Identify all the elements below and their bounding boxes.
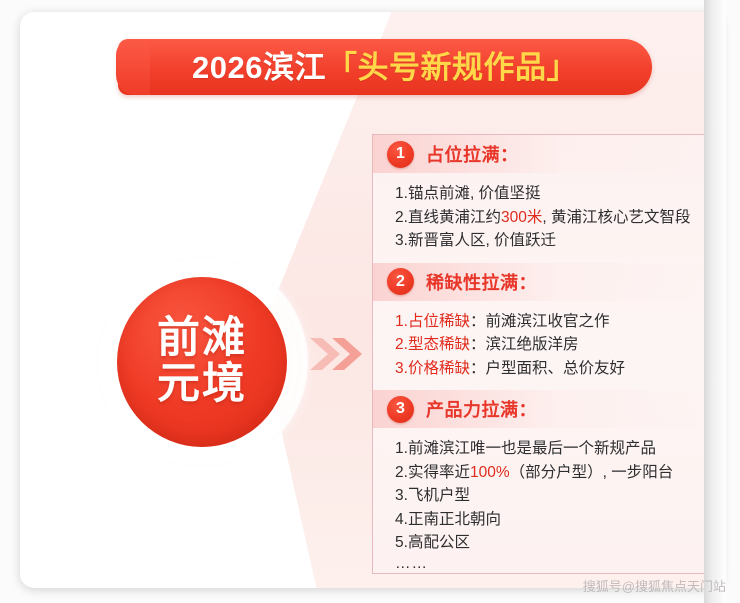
title-banner: 2026滨江「头号新规作品」 xyxy=(118,39,652,95)
title-text-white: 2026滨江 xyxy=(192,50,326,85)
row-text: 高配公区 xyxy=(408,534,470,551)
section-2-header: 2 稀缺性拉满： xyxy=(373,263,712,301)
content-card: 2026滨江「头号新规作品」 前滩 元境 1 占位拉满： xyxy=(20,12,722,588)
title-text-gold: 「头号新规作品」 xyxy=(326,50,578,85)
row-tail: （部分户型）, 一步阳台 xyxy=(510,464,674,481)
row-index: 2. xyxy=(395,336,408,353)
section-3-title: 产品力拉满： xyxy=(426,396,537,422)
row-text: 锚点前滩, 价值坚挺 xyxy=(408,185,541,202)
section-2-number: 2 xyxy=(387,268,414,295)
row-highlight: 100% xyxy=(470,464,510,481)
row-index: 3. xyxy=(395,232,408,249)
row-tail: , 黄浦江核心艺文智段 xyxy=(542,209,690,226)
features-panel: 1 占位拉满： 1.锚点前滩, 价值坚挺 2.直线黄浦江约300米, 黄浦江核心… xyxy=(372,134,713,574)
list-item: 1.锚点前滩, 价值坚挺 xyxy=(395,182,702,206)
row-lead: 型态稀缺 xyxy=(408,336,470,353)
row-index: 5. xyxy=(395,534,408,551)
row-index: 2. xyxy=(395,464,408,481)
list-item: 3.价格稀缺：户型面积、总价友好 xyxy=(395,357,702,381)
feature-section-2: 2 稀缺性拉满： 1.占位稀缺：前滩滨江收官之作 2.型态稀缺：滨江绝版洋房 3… xyxy=(373,263,712,391)
row-index: 1. xyxy=(395,440,408,457)
list-item: 3.新晋富人区, 价值跃迁 xyxy=(395,229,702,253)
list-item: 1.前滩滨江唯一也是最后一个新规产品 xyxy=(395,437,702,461)
row-text: 正南正北朝向 xyxy=(408,511,501,528)
list-item: 3.飞机户型 xyxy=(395,484,702,508)
section-3-number: 3 xyxy=(387,396,414,423)
row-text: 前滩滨江唯一也是最后一个新规产品 xyxy=(408,440,656,457)
project-badge: 前滩 元境 xyxy=(96,256,308,468)
section-2-title: 稀缺性拉满： xyxy=(426,269,537,295)
title-banner-text: 2026滨江「头号新规作品」 xyxy=(192,52,578,83)
row-text: ：滨江绝版洋房 xyxy=(470,336,579,353)
row-index: 1. xyxy=(395,185,408,202)
row-text: 飞机户型 xyxy=(408,487,470,504)
section-3-header: 3 产品力拉满： xyxy=(373,390,712,428)
row-text: ：户型面积、总价友好 xyxy=(470,360,625,377)
row-index: 4. xyxy=(395,511,408,528)
page-root: 2026滨江「头号新规作品」 前滩 元境 1 占位拉满： xyxy=(0,0,740,603)
row-lead: 价格稀缺 xyxy=(408,360,470,377)
row-lead: 占位稀缺 xyxy=(408,313,470,330)
section-3-ellipsis: …… xyxy=(395,555,702,573)
list-item: 1.占位稀缺：前滩滨江收官之作 xyxy=(395,310,702,334)
row-highlight: 300米 xyxy=(501,209,542,226)
page-gutter xyxy=(704,0,726,603)
feature-section-1: 1 占位拉满： 1.锚点前滩, 价值坚挺 2.直线黄浦江约300米, 黄浦江核心… xyxy=(373,135,712,263)
list-item: 2.直线黄浦江约300米, 黄浦江核心艺文智段 xyxy=(395,206,702,230)
section-1-header: 1 占位拉满： xyxy=(373,135,712,173)
badge-circle: 前滩 元境 xyxy=(117,277,287,447)
feature-section-3: 3 产品力拉满： 1.前滩滨江唯一也是最后一个新规产品 2.实得率近100%（部… xyxy=(373,390,712,583)
double-chevron-right-icon xyxy=(308,332,366,376)
list-item: 2.型态稀缺：滨江绝版洋房 xyxy=(395,333,702,357)
list-item: 5.高配公区 xyxy=(395,531,702,555)
section-1-title: 占位拉满： xyxy=(426,141,519,167)
row-index: 2. xyxy=(395,209,408,226)
row-index: 3. xyxy=(395,487,408,504)
badge-line-2: 元境 xyxy=(157,363,247,407)
row-index: 3. xyxy=(395,360,408,377)
badge-line-1: 前滩 xyxy=(157,317,247,361)
row-text: ：前滩滨江收官之作 xyxy=(470,313,610,330)
section-1-number: 1 xyxy=(387,141,414,168)
list-item: 4.正南正北朝向 xyxy=(395,508,702,532)
section-1-body: 1.锚点前滩, 价值坚挺 2.直线黄浦江约300米, 黄浦江核心艺文智段 3.新… xyxy=(373,173,712,263)
section-2-body: 1.占位稀缺：前滩滨江收官之作 2.型态稀缺：滨江绝版洋房 3.价格稀缺：户型面… xyxy=(373,301,712,391)
row-text: 新晋富人区, 价值跃迁 xyxy=(408,232,556,249)
row-text: 直线黄浦江约 xyxy=(408,209,501,226)
row-index: 1. xyxy=(395,313,408,330)
watermark: 搜狐号@搜狐焦点天门站 xyxy=(583,576,726,595)
row-text: 实得率近 xyxy=(408,464,470,481)
list-item: 2.实得率近100%（部分户型）, 一步阳台 xyxy=(395,461,702,485)
section-3-body: 1.前滩滨江唯一也是最后一个新规产品 2.实得率近100%（部分户型）, 一步阳… xyxy=(373,428,712,583)
